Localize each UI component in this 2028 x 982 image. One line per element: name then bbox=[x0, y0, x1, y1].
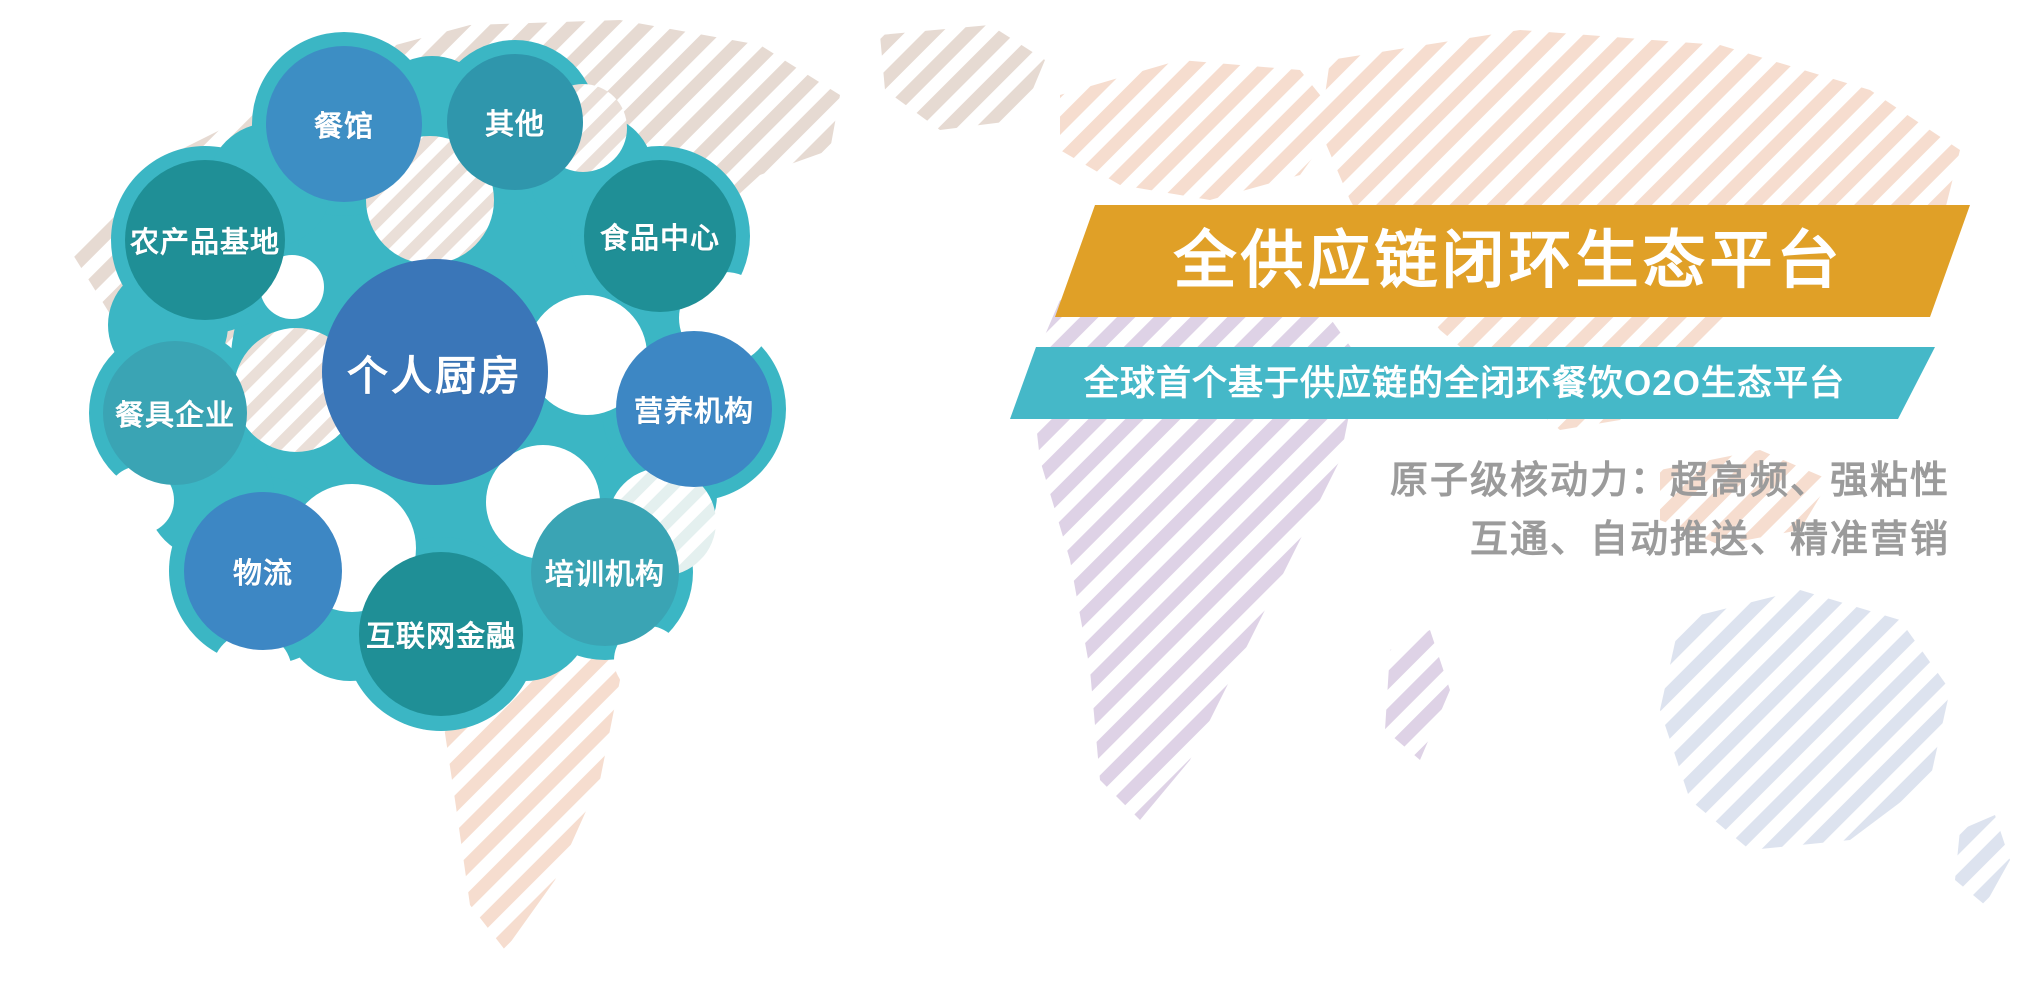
ecosystem-flower-diagram bbox=[0, 0, 1020, 982]
petal-circle-canjuqiye bbox=[103, 341, 247, 485]
sub-banner-text: 全球首个基于供应链的全闭环餐饮O2O生态平台 bbox=[1084, 366, 1845, 401]
body-line-1: 原子级核动力：超高频、强粘性 bbox=[1000, 452, 1950, 511]
poster-canvas: 个人厨房 餐馆 其他 食品中心 营养机构 培训机构 互联网金融 物流 餐具企业 … bbox=[0, 0, 2028, 982]
petal-circle-canguan bbox=[266, 46, 422, 202]
sub-banner: 全球首个基于供应链的全闭环餐饮O2O生态平台 bbox=[1010, 347, 1935, 419]
petal-circle-wuliu bbox=[184, 492, 342, 650]
main-banner-text: 全供应链闭环生态平台 bbox=[1174, 230, 1844, 293]
petal-circle-hulianwangjinrong bbox=[359, 552, 523, 716]
petal-circle-peixunjigou bbox=[531, 498, 679, 646]
petal-circle-qita bbox=[447, 54, 583, 190]
main-banner: 全供应链闭环生态平台 bbox=[1055, 205, 1970, 317]
body-line-2: 互通、自动推送、精准营销 bbox=[1000, 511, 1950, 570]
petal-circle-nongchanpinjidi bbox=[125, 160, 285, 320]
petal-circle-shipinzhongxin bbox=[584, 160, 736, 312]
center-circle-gerenchufang[interactable] bbox=[322, 259, 548, 485]
petal-circle-yingyangjigou bbox=[616, 331, 772, 487]
body-copy: 原子级核动力：超高频、强粘性 互通、自动推送、精准营销 bbox=[1000, 452, 1968, 570]
headline-panel: 全供应链闭环生态平台 全球首个基于供应链的全闭环餐饮O2O生态平台 原子级核动力… bbox=[1000, 0, 2028, 982]
